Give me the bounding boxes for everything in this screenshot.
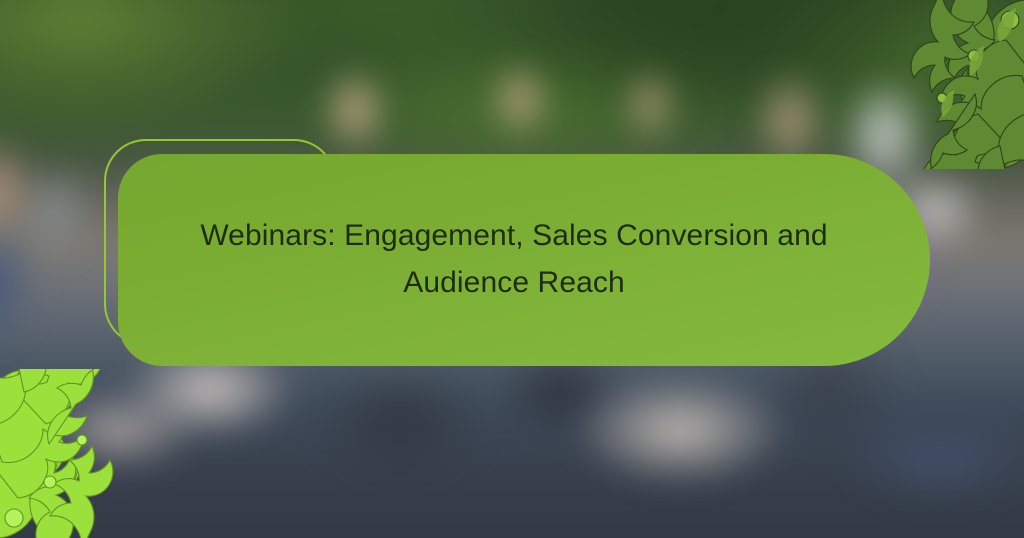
slide-canvas: Webinars: Engagement, Sales Conversion a…	[0, 0, 1024, 538]
page-title: Webinars: Engagement, Sales Conversion a…	[194, 213, 834, 307]
page-title-line-2: Audience Reach	[403, 266, 625, 299]
title-card: Webinars: Engagement, Sales Conversion a…	[118, 154, 930, 366]
page-title-line-1: Webinars: Engagement, Sales Conversion a…	[200, 219, 827, 252]
